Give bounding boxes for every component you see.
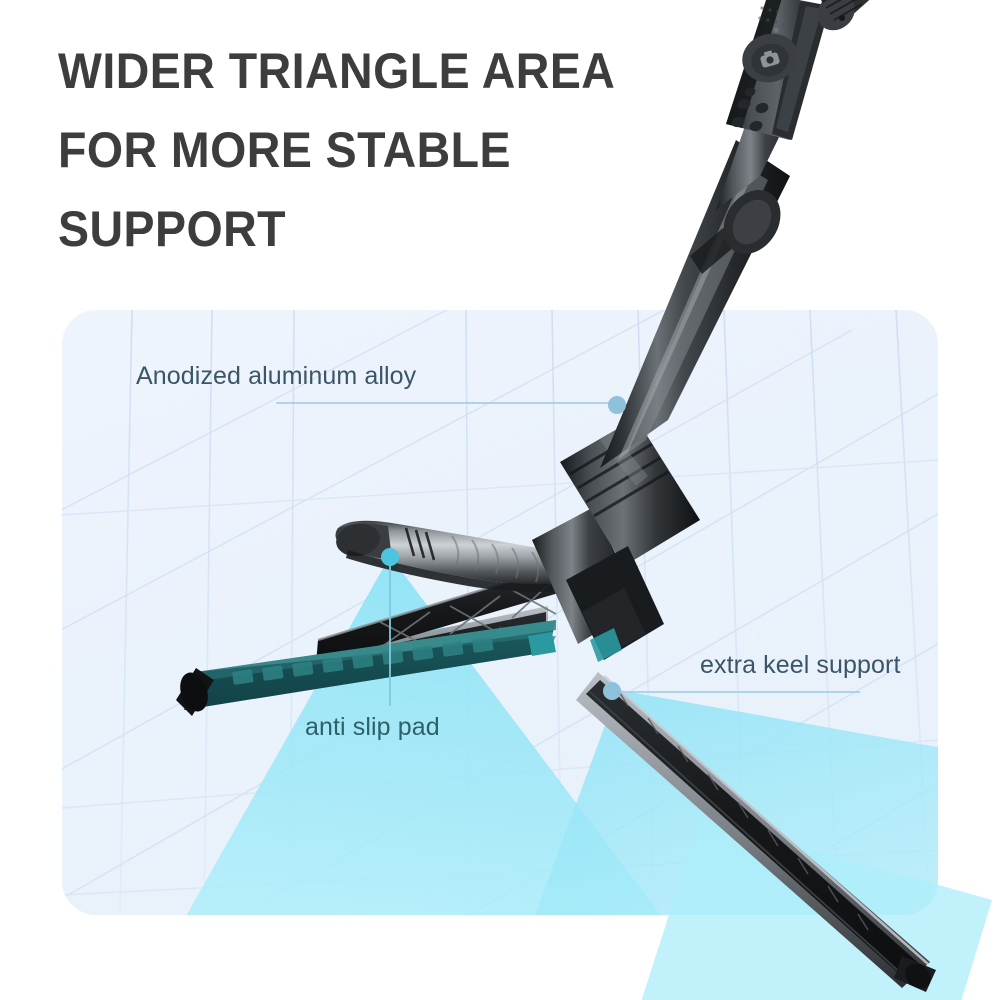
pole-pivot-joint bbox=[712, 179, 792, 264]
callout-anti-slip-pad: anti slip pad bbox=[305, 713, 440, 742]
perspective-grid bbox=[62, 310, 938, 915]
infographic-canvas: WIDER TRIANGLE AREA FOR MORE STABLE SUPP… bbox=[0, 0, 1000, 1000]
remote-handle bbox=[726, 0, 866, 140]
callout-anodized-aluminum-alloy: Anodized aluminum alloy bbox=[136, 362, 416, 391]
headline-line-2: FOR MORE STABLE bbox=[58, 122, 511, 178]
headline-line-3: SUPPORT bbox=[58, 201, 286, 257]
camera-icon bbox=[759, 49, 780, 68]
led-indicator bbox=[773, 27, 778, 32]
background-panel bbox=[62, 310, 938, 915]
shutter-button-pad bbox=[736, 27, 803, 89]
page-title: WIDER TRIANGLE AREA FOR MORE STABLE SUPP… bbox=[58, 32, 690, 269]
ball-head-knob bbox=[810, 0, 938, 38]
callout-extra-keel-support: extra keel support bbox=[700, 651, 901, 680]
headline-line-1: WIDER TRIANGLE AREA bbox=[58, 43, 615, 99]
grip-texture bbox=[730, 86, 769, 132]
